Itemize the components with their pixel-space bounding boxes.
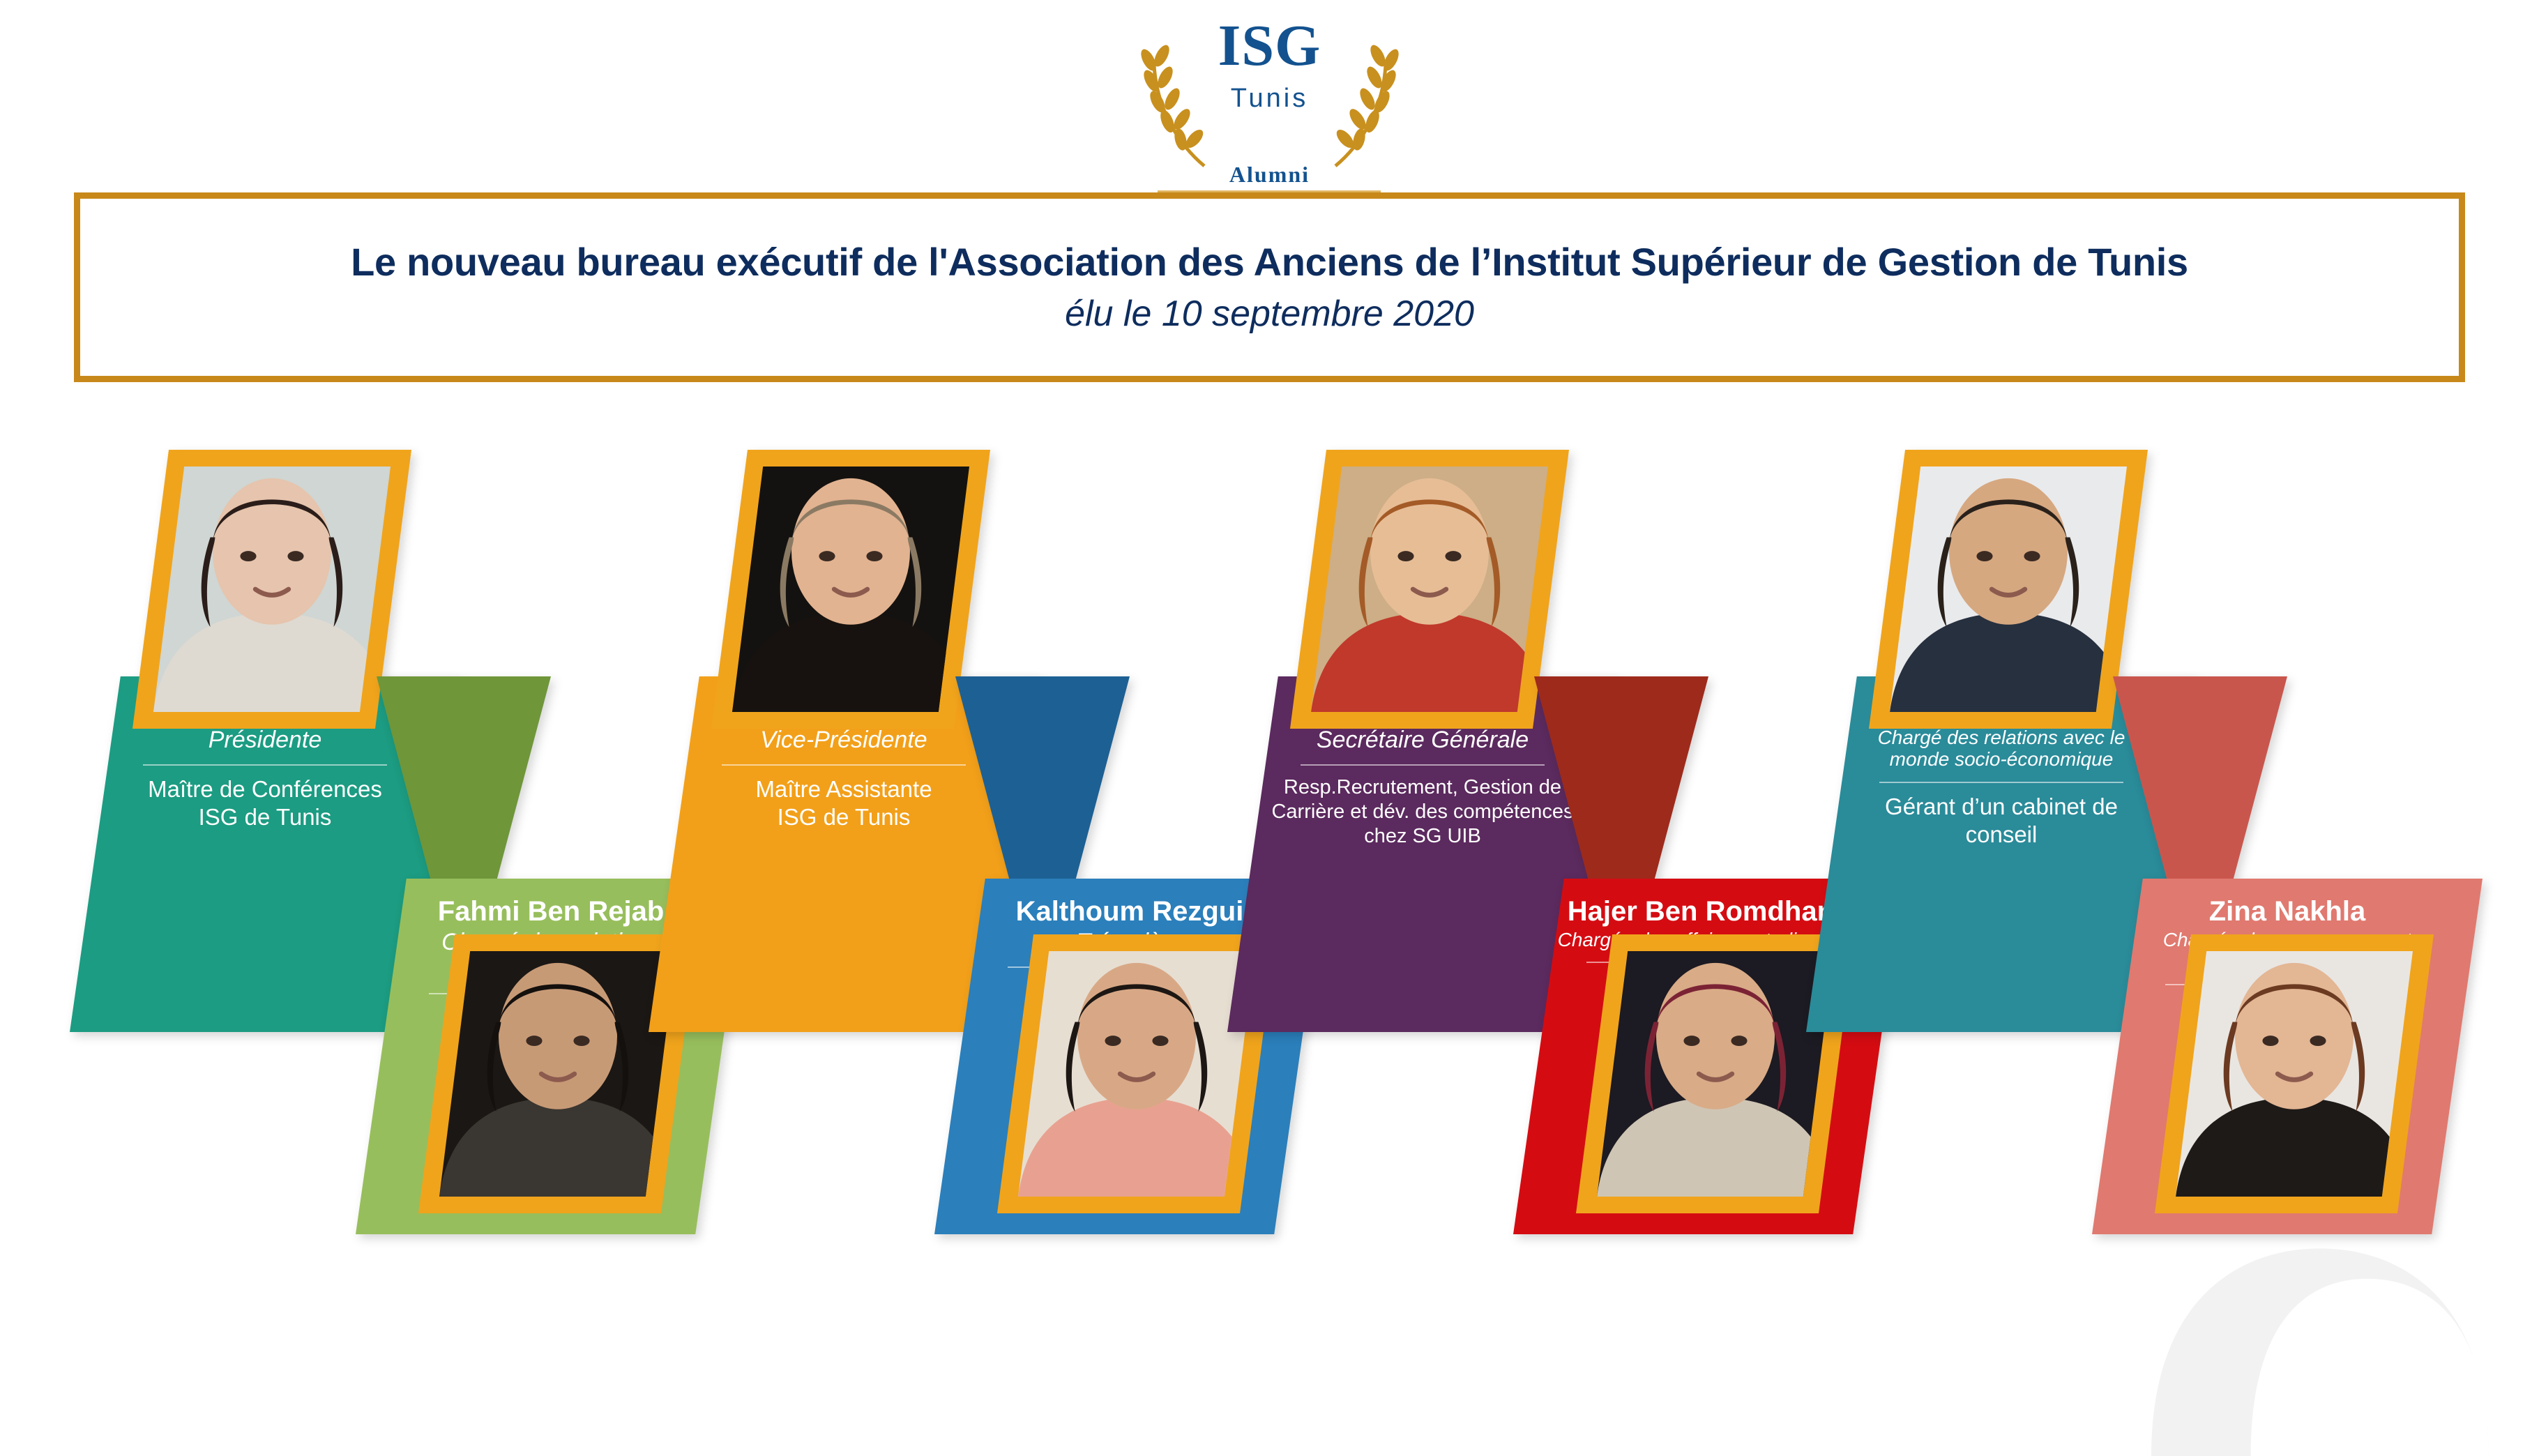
member-role: Vice-Présidente: [760, 727, 927, 753]
member-photo: [1890, 467, 2127, 712]
member-photo: [1018, 951, 1255, 1197]
title-banner: Le nouveau bureau exécutif de l'Associat…: [74, 192, 2465, 382]
portrait-zina-nakhla: [2176, 951, 2413, 1197]
member-photo: [153, 467, 391, 712]
portrait-hajer-ben-romdhane: [1597, 951, 1834, 1197]
logo-tunis-text: Tunis: [1130, 84, 1409, 114]
member-photo: [2176, 951, 2413, 1197]
member-photo: [732, 467, 969, 712]
member-name: Kalthoum Rezgui: [1016, 897, 1244, 926]
member-photo: [439, 951, 676, 1197]
member-photo: [1597, 951, 1834, 1197]
member-divider: [143, 764, 387, 766]
member-divider: [722, 764, 966, 766]
member-affiliation: Maître de ConférencesISG de Tunis: [148, 775, 382, 832]
page-subtitle: élu le 10 septembre 2020: [1065, 293, 1474, 335]
member-card[interactable]: Zina Nakhla Chargée des programmes et pr…: [2092, 446, 2483, 1283]
member-name: Zina Nakhla: [2209, 897, 2366, 926]
member-divider: [1879, 782, 2123, 783]
portrait-ahmed-bahri: [1890, 467, 2127, 712]
executive-board-chevrons: Kaouther Nouira Présidente Maître de Con…: [0, 446, 2539, 1283]
page-title: Le nouveau bureau exécutif de l'Associat…: [351, 240, 2188, 285]
portrait-kalthoum-rezgui: [1018, 951, 1255, 1197]
member-role: Présidente: [209, 727, 322, 753]
member-divider: [1301, 764, 1545, 766]
portrait-atefa-ben-alaya: [1311, 467, 1548, 712]
isg-alumni-logo: ISG Tunis Alumni: [0, 7, 2539, 195]
member-affiliation: Maître AssistanteISG de Tunis: [755, 775, 932, 832]
logo-alumni-text: Alumni: [1130, 162, 1409, 188]
member-photo: [1311, 467, 1548, 712]
logo-isg-text: ISG: [1130, 17, 1409, 75]
portrait-fahmi-ben-rejab: [439, 951, 676, 1197]
member-photo-frame: [2155, 934, 2434, 1213]
member-role: Secrétaire Générale: [1317, 727, 1529, 753]
member-name: Fahmi Ben Rejab: [438, 897, 665, 926]
portrait-kaouther-nouira: [153, 467, 391, 712]
portrait-hadhemi-achour: [732, 467, 969, 712]
